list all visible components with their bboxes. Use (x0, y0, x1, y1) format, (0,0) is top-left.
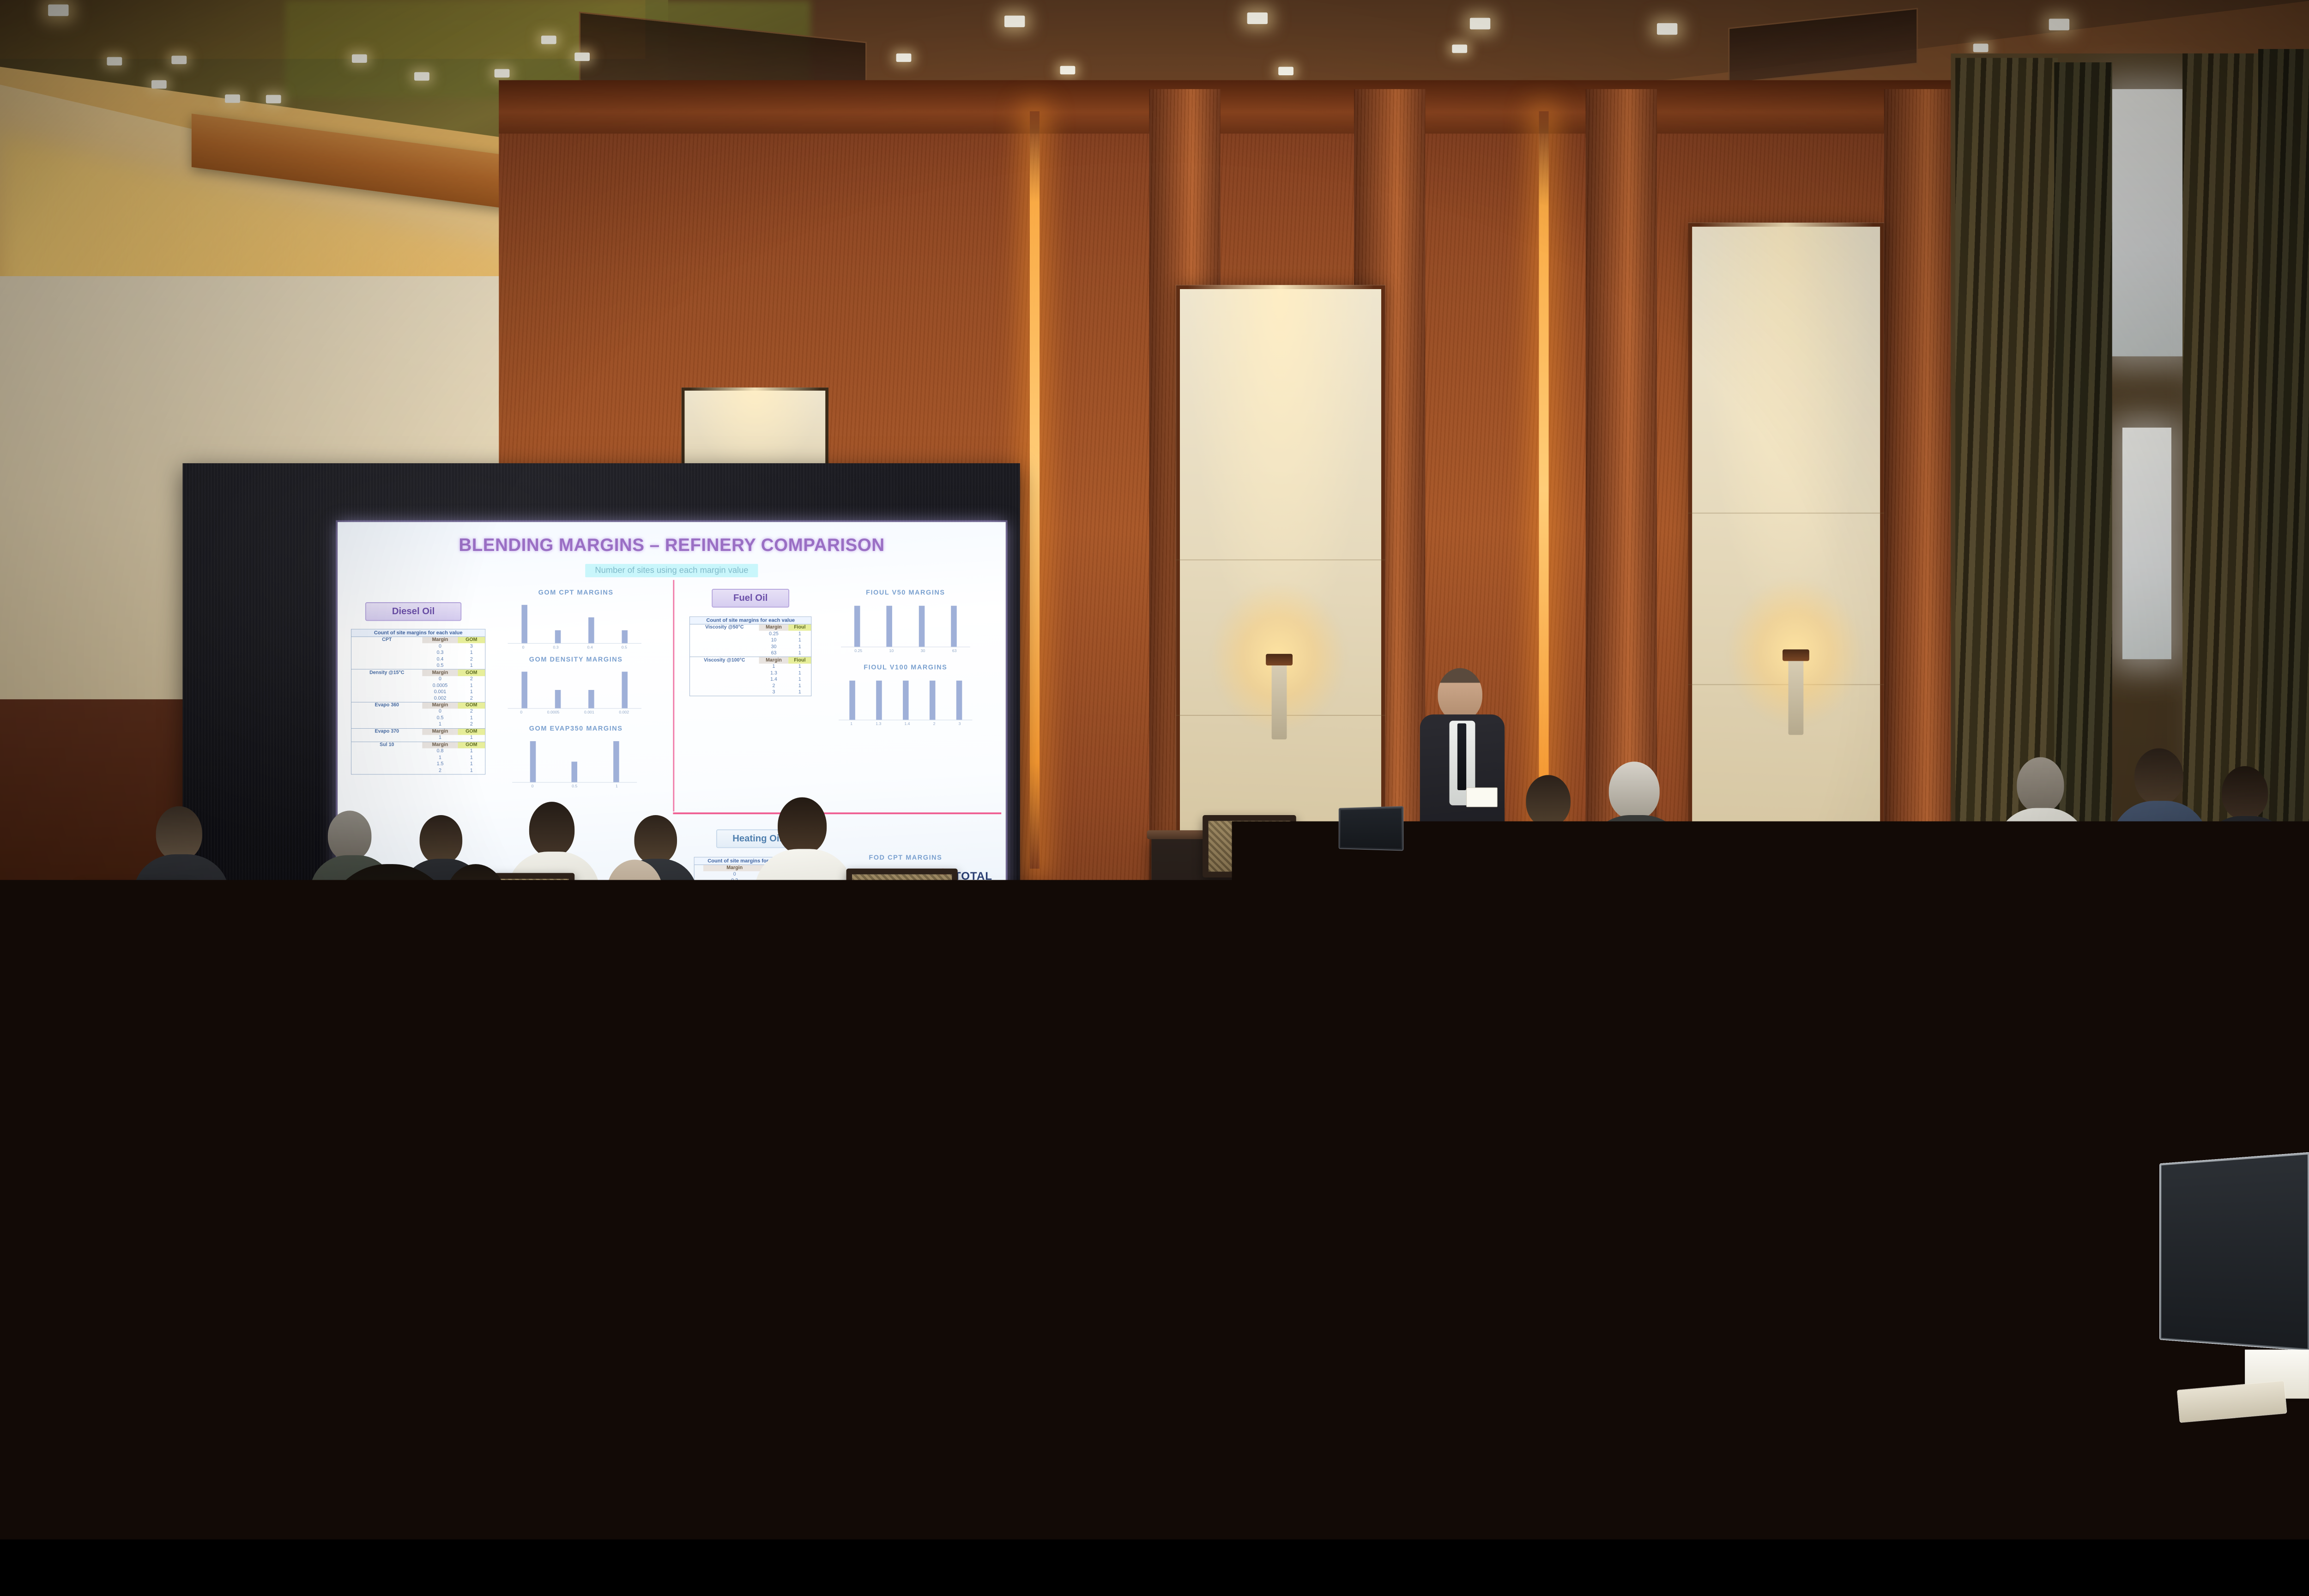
coffee-cup (2067, 1233, 2124, 1320)
attendee-head (2222, 766, 2268, 820)
navy-folder (842, 989, 926, 1008)
sconce-cap (1783, 649, 1809, 661)
attendee-laptop (2159, 1152, 2309, 1351)
tick: 0.5 (622, 645, 627, 650)
laptop-screen (1341, 809, 1401, 849)
bar (887, 606, 893, 647)
bar (849, 681, 855, 720)
attendee-body (755, 849, 853, 946)
tick: 0.0005 (547, 710, 560, 714)
tick: 0.3 (553, 645, 558, 650)
panel-light-wash (1700, 223, 1872, 631)
tick: 1.4 (904, 722, 910, 726)
bar (588, 690, 594, 708)
tick: 63 (952, 648, 957, 653)
slide-divider-vertical (673, 580, 674, 812)
tick: 0.002 (619, 710, 629, 714)
tick: 0 (520, 710, 522, 714)
chart-axis-gom-density: 0 0.0005 0.001 0.002 (508, 710, 641, 714)
table-caption: Count of site margins for each value (690, 617, 811, 624)
attendee-head (420, 815, 463, 864)
attendee-head (156, 806, 202, 861)
bar (572, 762, 578, 782)
chart-gom-density (508, 671, 641, 708)
tick: 2 (933, 722, 936, 726)
downlight (48, 5, 68, 16)
attendee-head (2134, 748, 2183, 804)
tick: 0.001 (584, 710, 594, 714)
downlight (495, 69, 510, 77)
bar (521, 671, 527, 708)
chart-title-gom-cpt: GOM CPT MARGINS (502, 589, 649, 596)
attendee-head (634, 815, 677, 864)
downlight (1657, 23, 1677, 35)
downlight (107, 57, 122, 65)
downlight (1060, 66, 1076, 74)
chart-fioul-v100 (839, 681, 972, 720)
presenter-tie (1457, 723, 1466, 790)
wood-header-band (499, 80, 1969, 134)
presenter-shoe (1426, 974, 1467, 988)
slide-subtitle: Number of sites using each margin value (585, 564, 758, 577)
chair-back (846, 869, 958, 949)
chart-gom-cpt (508, 605, 641, 644)
table-fuel: Count of site margins for each value Vis… (689, 617, 811, 696)
presenter-name-badge (1466, 787, 1498, 807)
attendee-head (1609, 762, 1660, 819)
presenter-laptop (1339, 806, 1404, 851)
attendee-head (2120, 909, 2254, 1060)
water-glass (630, 1087, 656, 1126)
presenter-head (1438, 668, 1482, 721)
attendee-head (328, 810, 372, 860)
bar (854, 606, 860, 647)
attendee-head (316, 864, 463, 1042)
chart-title-gom-evap: GOM EVAP350 MARGINS (502, 725, 649, 732)
chart-axis-gom-cpt: 0 0.3 0.4 0.5 (508, 645, 641, 650)
chart-axis-fioul-v50: 0.25 10 30 63 (841, 648, 970, 653)
laptop-screen (2161, 1155, 2308, 1348)
chart-axis-gom-evap: 0 0.5 1 (512, 784, 637, 789)
downlight (1470, 18, 1490, 30)
tick: 0.4 (587, 645, 593, 650)
attendee-head (1515, 859, 1581, 935)
downlight (541, 36, 556, 44)
attendee-head (778, 797, 827, 854)
window-daylight (2122, 428, 2171, 659)
downlight (1247, 12, 1268, 24)
bar (588, 617, 594, 643)
panel-seam (1176, 560, 1385, 561)
bar (530, 741, 536, 782)
chair (80, 882, 192, 962)
chart-title-fioul-v50: FIOUL V50 MARGINS (832, 589, 979, 596)
wall-sconce (1272, 664, 1287, 739)
handout-paper (677, 1084, 789, 1111)
conference-room-photo: BLENDING MARGINS – REFINERY COMPARISON N… (0, 0, 2309, 1539)
backpack-red-panel (854, 1094, 947, 1215)
downlight (414, 72, 429, 80)
downlight (1452, 44, 1467, 53)
water-glass (1294, 823, 1311, 847)
attendee (1483, 859, 1617, 1064)
handout-paper (1505, 970, 1631, 1000)
tick: 1 (850, 722, 852, 726)
chair-back (1203, 815, 1296, 877)
downlight (2049, 19, 2069, 30)
attendee-body (2200, 816, 2293, 910)
cove-light-strip (1030, 111, 1040, 869)
slide-chip-fuel: Fuel Oil (712, 589, 789, 608)
tick: 0 (532, 784, 534, 789)
downlight (151, 80, 167, 89)
water-glass (1790, 840, 1810, 869)
downlight (896, 54, 912, 62)
attendee-head (529, 802, 574, 857)
backpack (815, 1131, 993, 1363)
floor-outlet-cover (1203, 1210, 1241, 1223)
floor-outlet-cover (1105, 1211, 1143, 1224)
tick: 0.25 (854, 648, 862, 653)
panel-light-wash (690, 387, 820, 473)
chair (2031, 828, 2156, 918)
bar (555, 690, 561, 708)
bar (951, 606, 957, 647)
chair-back (2031, 828, 2156, 918)
laptop-screen (2, 952, 83, 1000)
tick: 1.3 (876, 722, 881, 726)
cup-body (2067, 1244, 2124, 1320)
downlight (266, 95, 281, 103)
downlight (1973, 44, 1989, 52)
chart-title-fioul-v100: FIOUL V100 MARGINS (832, 664, 979, 671)
attendee (753, 797, 855, 940)
bar (919, 606, 925, 647)
table-diesel: Count of site margins for each value CPT… (351, 629, 485, 774)
downlight (1004, 16, 1025, 27)
chart-axis-fioul-v100: 1 1.3 1.4 2 3 (839, 722, 972, 726)
head-table-chair (1203, 815, 1296, 877)
downlight (171, 56, 187, 64)
sconce-cap (1266, 654, 1293, 665)
bar (622, 671, 628, 708)
bar (929, 681, 935, 720)
attendee-head (1526, 775, 1570, 827)
bar (521, 605, 527, 643)
downlight (574, 53, 590, 61)
chart-fioul-v50 (841, 606, 970, 647)
attendee-head (2017, 757, 2064, 813)
bar (622, 630, 628, 643)
bar (903, 681, 909, 720)
attendee-body (1483, 929, 1615, 1072)
slide-title: BLENDING MARGINS – REFINERY COMPARISON (338, 535, 1006, 555)
tick: 30 (921, 648, 925, 653)
table-caption: Count of site margins for each value (351, 629, 485, 637)
window-daylight (2109, 89, 2187, 357)
handout-paper (0, 1354, 104, 1412)
chair (846, 869, 958, 949)
tick: 0 (522, 645, 525, 650)
attendee (2200, 766, 2294, 909)
total-wordmark: TOTAL (954, 870, 992, 883)
wall-sconce (1788, 659, 1803, 735)
backpack (619, 1385, 833, 1540)
bar (555, 630, 561, 643)
bar (956, 681, 962, 720)
navy-folder (1692, 1038, 1817, 1064)
attendee-laptop (0, 949, 85, 1002)
chart-title-gom-density: GOM DENSITY MARGINS (502, 656, 649, 663)
chart-gom-evap (512, 741, 637, 783)
attendee-head (1875, 846, 1946, 929)
tick: 0.5 (572, 784, 577, 789)
tick: 1 (616, 784, 618, 789)
bar (613, 741, 619, 782)
tick: 10 (889, 648, 894, 653)
panel-seam (1688, 513, 1884, 514)
slide-chip-diesel: Diesel Oil (365, 602, 461, 621)
chair-back (80, 882, 192, 962)
water-glass (178, 1295, 228, 1372)
backpack-red-panel (709, 1401, 807, 1472)
downlight (1278, 67, 1294, 75)
wall-fabric-panel (1688, 223, 1884, 882)
bar (876, 681, 882, 720)
downlight (352, 54, 367, 63)
tick: 3 (959, 722, 961, 726)
downlight (225, 94, 240, 103)
